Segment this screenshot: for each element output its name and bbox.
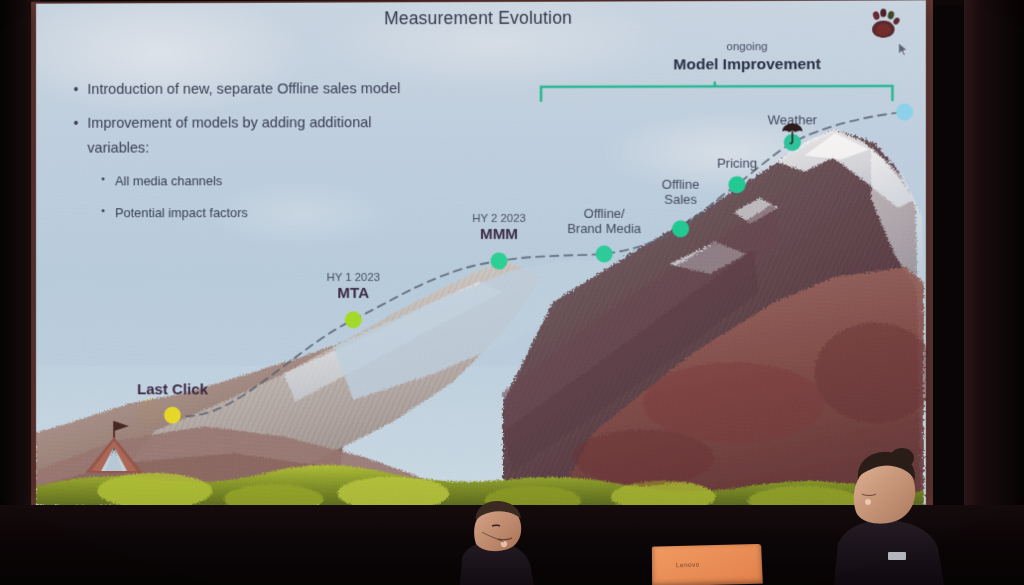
journey-node-label: Offline/ Brand Media	[567, 207, 641, 237]
journey-node-label: Last Click	[137, 381, 208, 398]
journey-node-name: MTA	[327, 285, 380, 302]
laptop-brand-label: Lenovo	[676, 562, 700, 570]
journey-node-pricing	[728, 176, 745, 193]
bullet-marker-icon: •	[74, 81, 88, 98]
bullet-item-3: • All media channels	[101, 173, 491, 190]
presentation-slide: ongoing Model Improvement Measurement Ev…	[36, 0, 926, 508]
bullet-item-1: • Introduction of new, separate Offline …	[74, 80, 491, 100]
speaker-left	[440, 492, 580, 585]
bracket-title: Model Improvement	[621, 56, 873, 75]
phase-bracket	[538, 81, 895, 104]
umbrella-icon	[779, 122, 805, 146]
bullet-text: Introduction of new, separate Offline sa…	[87, 80, 400, 99]
projection-screen: ongoing Model Improvement Measurement Ev…	[36, 0, 926, 508]
journey-node-label: HY 1 2023MTA	[327, 272, 380, 302]
journey-node-mmm	[490, 252, 507, 269]
paw-print-icon	[867, 8, 901, 38]
journey-node-summit	[896, 104, 913, 121]
journey-node-name: Last Click	[137, 381, 208, 398]
bullet-text: All media channels	[115, 173, 222, 190]
speaker-right	[828, 440, 988, 585]
journey-node-sublabel: HY 2 2023	[472, 213, 526, 226]
bullet-item-4: • Potential impact factors	[101, 205, 491, 222]
laptop-lid	[652, 544, 763, 585]
journey-node-offline-sales	[672, 220, 689, 237]
journey-node-name: Offline Sales	[662, 178, 700, 208]
bullet-item-2: • Improvement of models by adding additi…	[74, 114, 491, 133]
journey-node-offline-brand-media	[596, 245, 613, 262]
bullet-text: Improvement of models by adding addition…	[87, 114, 371, 133]
journey-node-label: Offline Sales	[662, 178, 700, 208]
bullet-marker-icon: •	[101, 205, 115, 219]
page-title: Measurement Evolution	[36, 6, 926, 30]
stage-photo: ongoing Model Improvement Measurement Ev…	[0, 0, 1024, 585]
journey-node-name: Pricing	[717, 157, 757, 172]
bullet-marker-icon: •	[101, 173, 115, 187]
journey-node-label: HY 2 2023MMM	[472, 213, 526, 243]
bullet-text: Potential impact factors	[115, 205, 248, 222]
laptop[interactable]: Lenovo	[652, 545, 762, 585]
bracket-caption: ongoing	[651, 41, 842, 54]
bullet-continuation: variables:	[87, 139, 491, 158]
journey-node-name: Offline/ Brand Media	[567, 207, 641, 237]
journey-node-sublabel: HY 1 2023	[327, 272, 380, 285]
bullet-marker-icon: •	[74, 114, 88, 131]
journey-node-last-click	[164, 407, 181, 424]
mountain-illustration	[36, 0, 926, 508]
mouse-pointer-icon	[898, 42, 909, 57]
tent-with-flag-icon	[78, 415, 151, 477]
journey-node-label: Pricing	[717, 157, 757, 172]
journey-node-name: MMM	[472, 226, 526, 243]
slide-bullet-list: • Introduction of new, separate Offline …	[74, 80, 491, 236]
journey-node-mta	[345, 311, 362, 328]
